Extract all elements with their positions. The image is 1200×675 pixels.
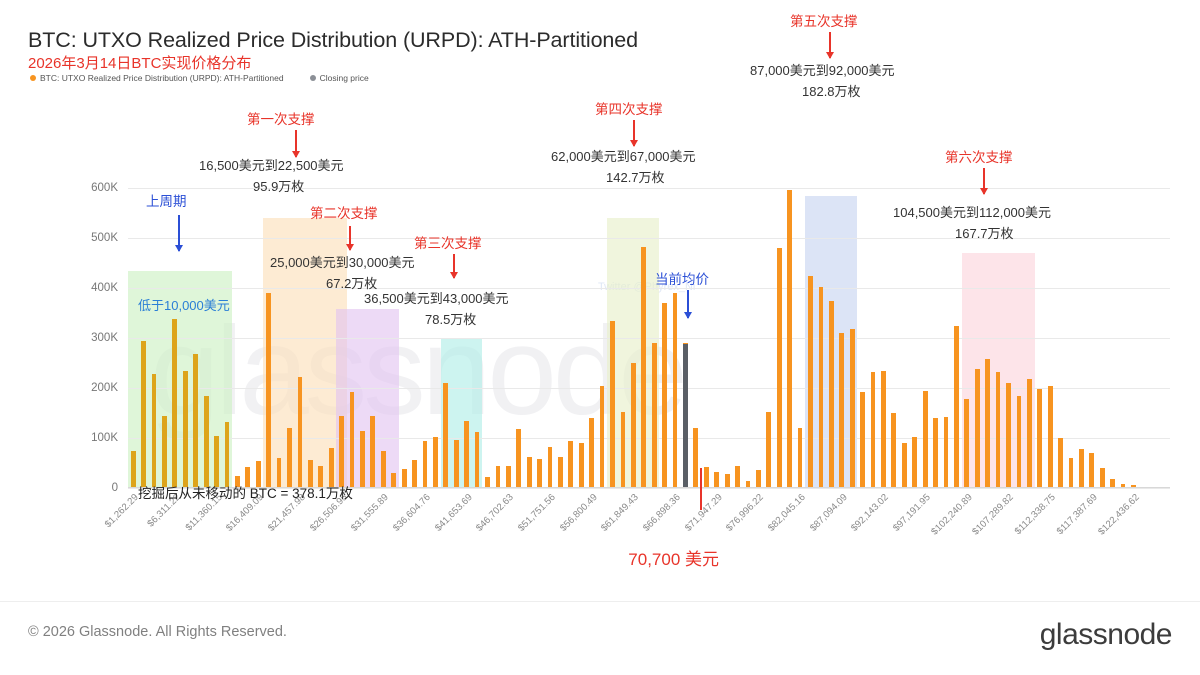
bar [266, 293, 271, 488]
annotation-support-6-range: 104,500美元到112,000美元 [893, 202, 1051, 221]
bar [996, 372, 1001, 488]
mined-never-moved-note: 挖掘后从未移动的 BTC = 378.1万枚 [138, 482, 353, 502]
annotation-support-3-title: 第三次支撑 [414, 232, 482, 252]
annotation-support-3-amount: 78.5万枚 [425, 309, 476, 328]
bar [568, 441, 573, 489]
chart-page: glassnode Twitter @Phyrex_Ni BTC: UTXO R… [0, 0, 1200, 675]
bar [954, 326, 959, 489]
bar [214, 436, 219, 489]
bar [704, 467, 709, 488]
annotation-support-4-arrow [633, 120, 634, 146]
bar [662, 303, 667, 488]
x-axis-tick-label: $61,849.43 [599, 492, 641, 534]
annotation-support-2-arrow [349, 226, 350, 250]
bar [923, 391, 928, 489]
bar [819, 287, 824, 488]
bar [1037, 389, 1042, 489]
bar [225, 422, 230, 489]
bar [558, 457, 563, 488]
bar [631, 363, 636, 488]
annotation-support-5-arrow [829, 32, 830, 58]
annotation-support-5-range: 87,000美元到92,000美元 [750, 60, 895, 79]
annotation-prior-cycle-arrow [178, 215, 179, 251]
x-axis-tick-label: $112,338.75 [1013, 492, 1058, 537]
bar [152, 374, 157, 488]
bar [496, 466, 501, 489]
bar [975, 369, 980, 488]
annotation-support-2-title: 第二次支撑 [310, 202, 378, 222]
bar [454, 440, 459, 489]
x-axis-tick-label: $107,289.82 [971, 492, 1017, 538]
y-axis-tick-label: 300K [58, 332, 118, 344]
bar [1058, 438, 1063, 488]
bar [798, 428, 803, 488]
bar [766, 412, 771, 488]
bar [475, 432, 480, 488]
bar [589, 418, 594, 488]
bar [902, 443, 907, 488]
annotation-support-1-range: 16,500美元到22,500美元 [199, 155, 344, 174]
y-axis-tick-label: 100K [58, 432, 118, 444]
x-axis-tick-label: $122,436.62 [1096, 492, 1142, 538]
bar [402, 469, 407, 488]
legend-item-0[interactable]: BTC: UTXO Realized Price Distribution (U… [30, 73, 284, 83]
bar [829, 301, 834, 489]
gray-dot-icon [310, 75, 316, 81]
y-axis-tick-label: 500K [58, 232, 118, 244]
bar [548, 447, 553, 489]
bar [964, 399, 969, 488]
bar [1006, 383, 1011, 488]
y-axis-tick-label: 600K [58, 182, 118, 194]
bar [944, 417, 949, 488]
annotation-prior-cycle-sub: 低于10,000美元 [138, 295, 230, 314]
bar [298, 377, 303, 488]
orange-dot-icon [30, 75, 36, 81]
annotation-support-1-arrow [295, 130, 296, 157]
bar [141, 341, 146, 489]
bar [871, 372, 876, 489]
current-price-marker [700, 468, 701, 510]
bar [621, 412, 626, 488]
x-axis-tick-label: $51,751.56 [516, 492, 558, 534]
bar [350, 392, 355, 488]
bar [1027, 379, 1032, 488]
x-axis-tick-label: $97,191.95 [891, 492, 933, 534]
x-axis-tick-label: $56,800.49 [558, 492, 600, 534]
bar [537, 459, 542, 488]
bar [933, 418, 938, 488]
bar [131, 451, 136, 489]
bar [1048, 386, 1053, 489]
y-axis-tick-label: 0 [58, 482, 118, 494]
current-price-label: 70,700 美元 [628, 545, 719, 570]
page-subtitle: 2026年3月14日BTC实现价格分布 [28, 52, 251, 73]
bar [1100, 468, 1105, 488]
bar [391, 473, 396, 488]
x-axis-tick-label: $71,947.29 [683, 492, 725, 534]
bar [204, 396, 209, 489]
annotation-support-4-range: 62,000美元到67,000美元 [551, 146, 696, 165]
bar [162, 416, 167, 489]
bar [610, 321, 615, 489]
bar [756, 470, 761, 488]
bar [881, 371, 886, 489]
legend-item-label: BTC: UTXO Realized Price Distribution (U… [40, 73, 284, 83]
x-axis-tick-label: $41,653.69 [433, 492, 475, 534]
annotation-support-3-range: 36,500美元到43,000美元 [364, 288, 509, 307]
bar [183, 371, 188, 488]
bar [714, 472, 719, 488]
bar [860, 392, 865, 488]
bar [464, 421, 469, 489]
annotation-support-4-title: 第四次支撑 [595, 98, 663, 118]
x-axis-tick-label: $102,240.89 [929, 492, 975, 538]
bar [193, 354, 198, 488]
annotation-support-5-title: 第五次支撑 [790, 10, 858, 30]
bar [787, 190, 792, 489]
bar [516, 429, 521, 488]
legend-item-1[interactable]: Closing price [310, 73, 369, 83]
bar [1017, 396, 1022, 489]
bar [579, 443, 584, 488]
bar [1079, 449, 1084, 488]
x-axis-tick-label: $76,996.22 [724, 492, 766, 534]
annotation-support-3-arrow [453, 254, 454, 278]
annotation-support-4-amount: 142.7万枚 [606, 167, 665, 186]
bar [673, 293, 678, 488]
bar [433, 437, 438, 489]
bar [412, 460, 417, 489]
annotation-support-5-amount: 182.8万枚 [802, 81, 861, 100]
bar [808, 276, 813, 489]
bar [423, 441, 428, 489]
bar [527, 457, 532, 488]
x-axis-tick-label: $36,604.76 [391, 492, 433, 534]
bar [850, 329, 855, 488]
annotation-support-1-title: 第一次支撑 [247, 108, 315, 128]
bar [777, 248, 782, 488]
bar [360, 431, 365, 489]
y-axis-tick-label: 400K [58, 282, 118, 294]
bar [735, 466, 740, 489]
annotation-support-6-title: 第六次支撑 [945, 146, 1013, 166]
annotation-support-6-amount: 167.7万枚 [955, 223, 1014, 242]
bar [287, 428, 292, 488]
bar [725, 474, 730, 488]
footer-divider [0, 601, 1200, 602]
bar [839, 333, 844, 488]
x-axis-tick-label: $92,143.02 [849, 492, 891, 534]
bar [339, 416, 344, 489]
x-axis-tick-label: $31,555.89 [349, 492, 391, 534]
bar [912, 437, 917, 488]
x-axis-tick-label: $1,262.29 [103, 492, 141, 530]
annotation-current-avg-title: 当前均价 [655, 268, 709, 288]
bar [1089, 453, 1094, 488]
bar [370, 416, 375, 489]
legend-item-label: Closing price [320, 73, 369, 83]
bar [506, 466, 511, 489]
x-axis-tick-label: $66,898.36 [641, 492, 683, 534]
copyright-text: © 2026 Glassnode. All Rights Reserved. [28, 624, 287, 640]
bar [652, 343, 657, 488]
brand-logo: glassnode [1040, 618, 1172, 652]
y-axis-tick-label: 200K [58, 382, 118, 394]
bar [891, 413, 896, 488]
annotation-prior-cycle-title: 上周期 [146, 190, 187, 210]
bar [693, 428, 698, 488]
bar [985, 359, 990, 488]
annotation-support-1-amount: 95.9万枚 [253, 176, 304, 195]
bar [1069, 458, 1074, 488]
annotation-support-6-arrow [983, 168, 984, 194]
x-axis-tick-label: $117,387.69 [1055, 492, 1100, 537]
bar [641, 247, 646, 488]
annotation-support-2-range: 25,000美元到30,000美元 [270, 252, 415, 271]
closing-price-bar [683, 344, 688, 488]
page-title: BTC: UTXO Realized Price Distribution (U… [28, 28, 638, 53]
chart-legend: BTC: UTXO Realized Price Distribution (U… [30, 73, 369, 83]
x-axis-tick-label: $87,094.09 [808, 492, 850, 534]
annotation-current-avg-arrow [687, 290, 688, 318]
x-axis-tick-label: $82,045.16 [766, 492, 808, 534]
bar [381, 451, 386, 489]
x-axis-tick-label: $46,702.63 [474, 492, 516, 534]
bar [443, 383, 448, 488]
bar [172, 319, 177, 488]
bar [600, 386, 605, 489]
